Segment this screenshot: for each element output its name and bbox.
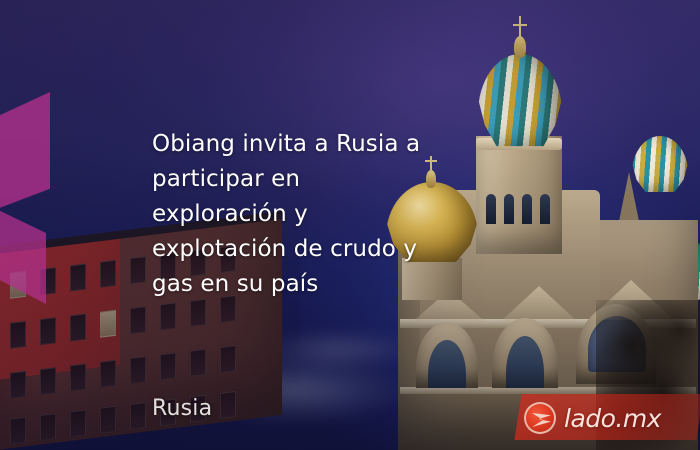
category-label[interactable]: Rusia — [152, 396, 212, 421]
headline-text: Obiang invita a Rusia a participar en ex… — [152, 127, 532, 302]
news-card: Obiang invita a Rusia a participar en ex… — [0, 0, 700, 450]
logo-glyph-icon — [532, 413, 551, 427]
logo-text: lado.mx — [564, 404, 661, 433]
site-logo[interactable]: lado.mx — [524, 396, 661, 440]
circle-logo-icon — [524, 402, 556, 434]
